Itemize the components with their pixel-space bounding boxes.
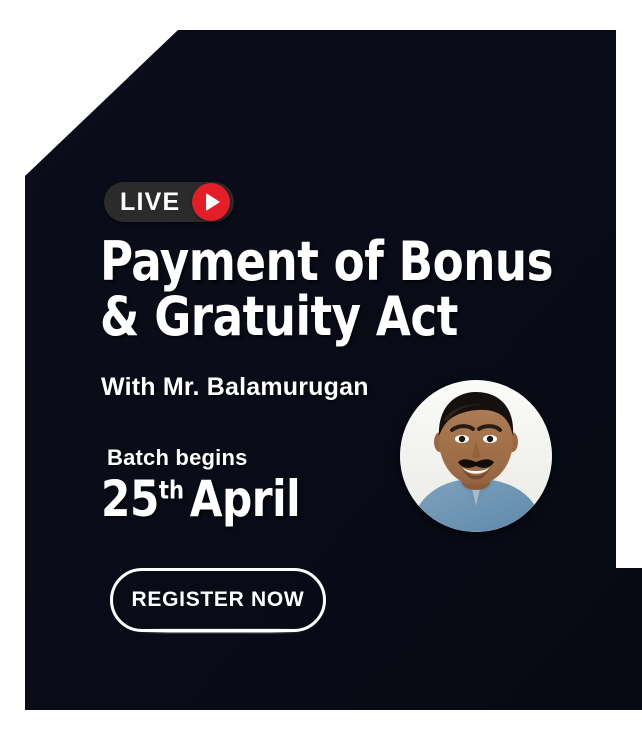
batch-month: April <box>190 470 300 528</box>
page-title: Payment of Bonus & Gratuity Act <box>100 234 537 344</box>
live-badge-label: LIVE <box>120 190 192 215</box>
batch-begins-label: Batch begins <box>107 445 248 471</box>
headline-line-1: Payment of Bonus <box>100 234 537 289</box>
batch-day: 25 <box>101 470 159 528</box>
play-triangle-glyph <box>206 193 220 211</box>
batch-ordinal-suffix: th <box>159 475 184 504</box>
register-now-button[interactable]: REGISTER NOW <box>110 568 326 632</box>
headline-line-2: & Gratuity Act <box>100 289 537 344</box>
presenter-name: With Mr. Balamurugan <box>101 373 369 402</box>
play-icon <box>192 183 230 221</box>
batch-start-date: 25thApril <box>101 474 300 524</box>
avatar <box>400 380 552 532</box>
live-badge[interactable]: LIVE <box>104 182 234 222</box>
avatar-portrait-image <box>400 380 552 532</box>
promo-card: LIVE Payment of Bonus & Gratuity Act Wit… <box>0 0 642 740</box>
